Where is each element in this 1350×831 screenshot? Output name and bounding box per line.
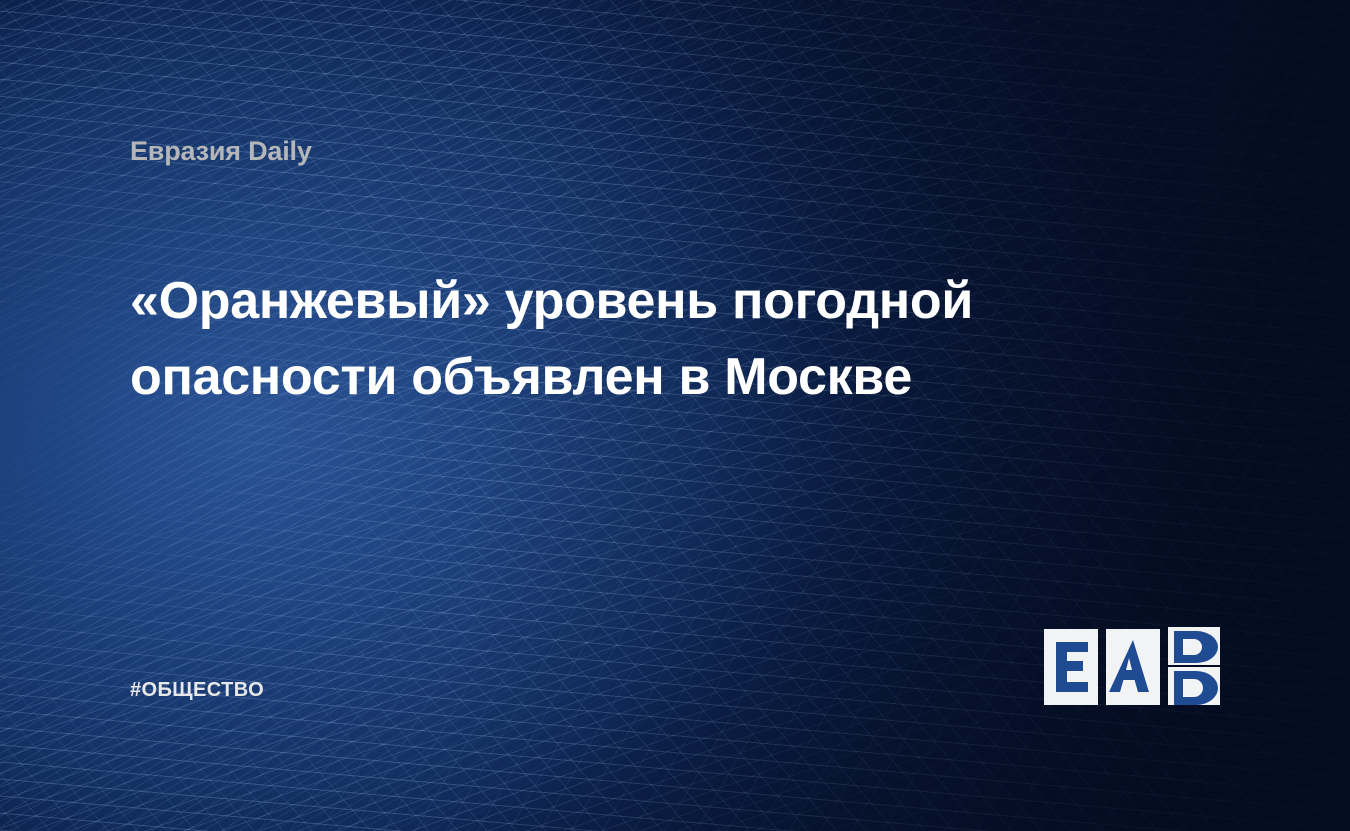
brand-name: Евразия Daily bbox=[130, 136, 312, 167]
news-share-card: Евразия Daily «Оранжевый» уровень погодн… bbox=[0, 0, 1350, 831]
card-content: Евразия Daily «Оранжевый» уровень погодн… bbox=[0, 0, 1350, 831]
eadaily-logo bbox=[1042, 625, 1224, 709]
eadaily-logo-mark bbox=[1042, 625, 1224, 709]
page-title: «Оранжевый» уровень погодной опасности о… bbox=[130, 264, 1090, 416]
category-tag: #ОБЩЕСТВО bbox=[130, 679, 264, 702]
